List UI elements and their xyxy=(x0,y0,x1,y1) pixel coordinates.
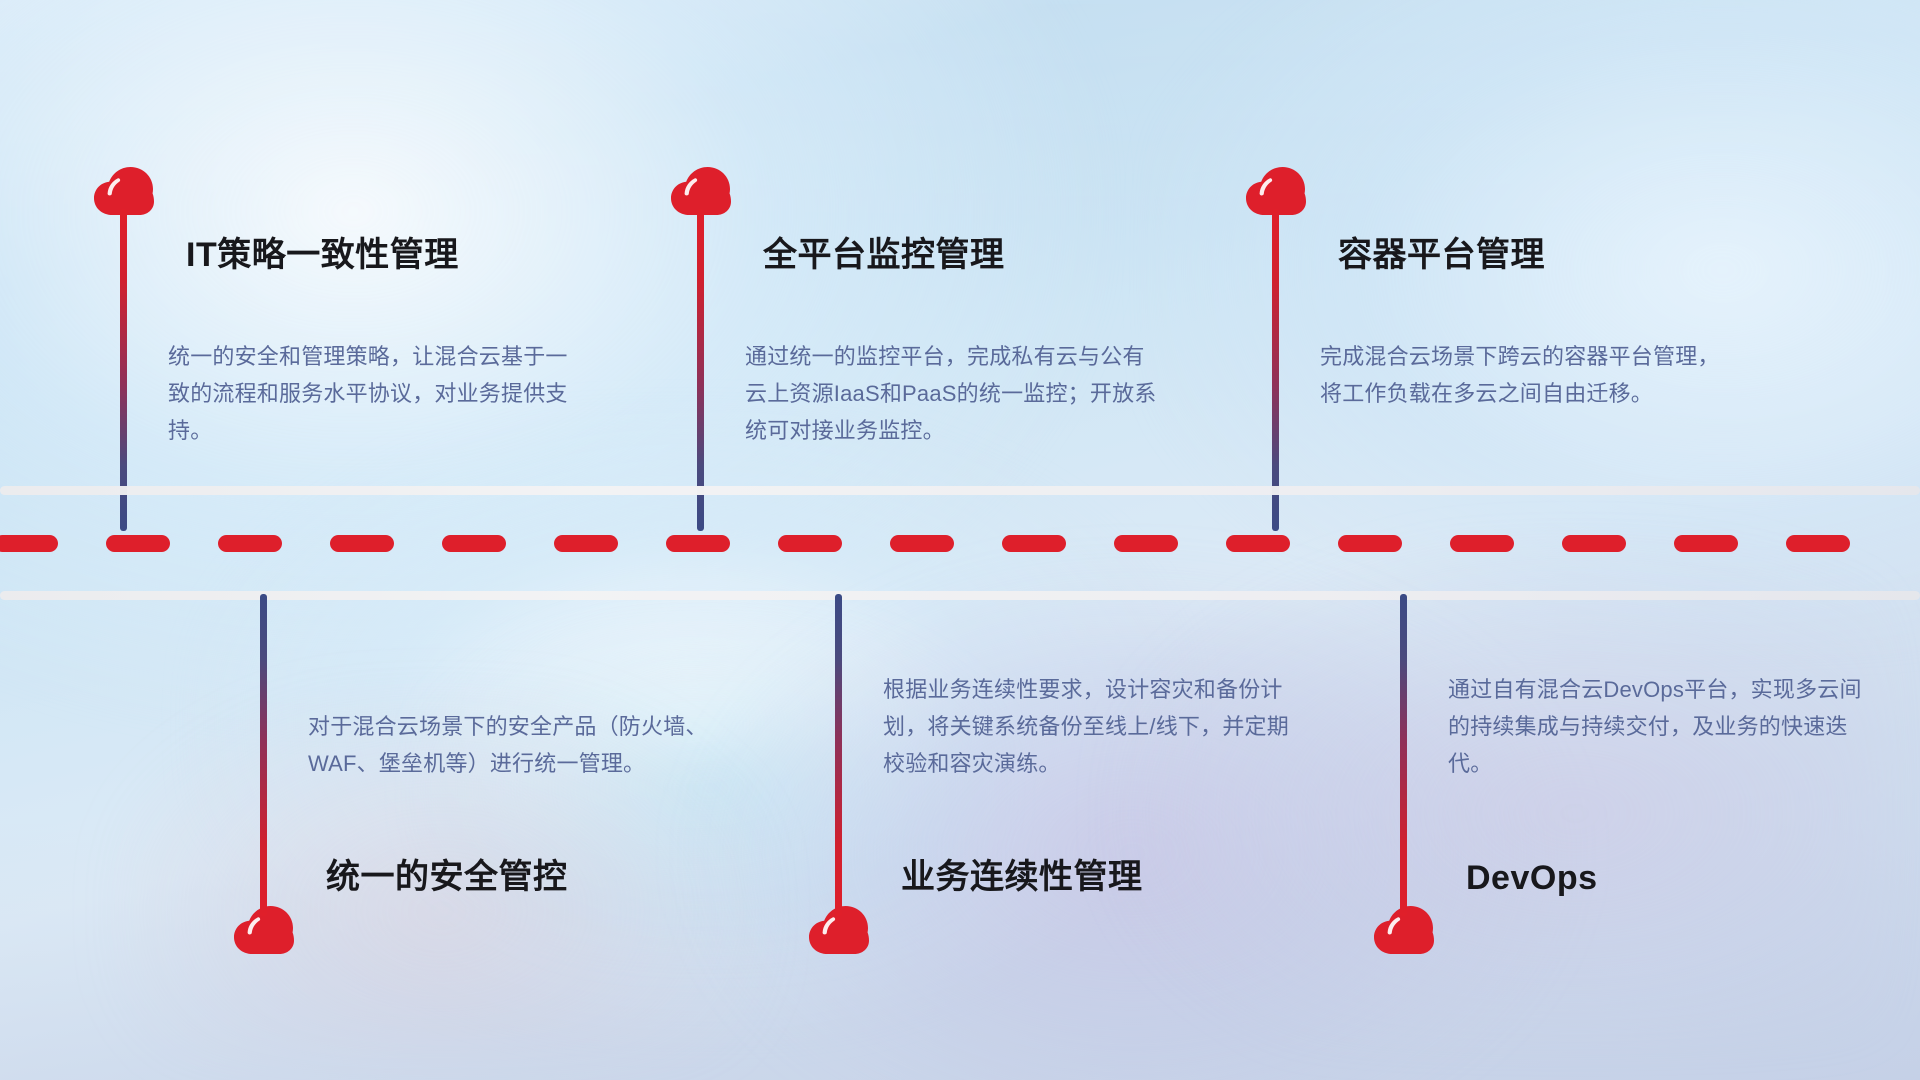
divider-band-bottom xyxy=(0,591,1920,600)
divider-dashes xyxy=(0,535,1920,552)
item-body: 对于混合云场景下的安全产品（防火墙、WAF、堡垒机等）进行统一管理。 xyxy=(308,708,728,782)
timeline-stem xyxy=(1272,209,1279,531)
divider-dash xyxy=(218,535,282,552)
timeline-stem xyxy=(835,594,842,916)
divider-dash xyxy=(1114,535,1178,552)
divider-dash xyxy=(554,535,618,552)
divider-dash xyxy=(0,535,58,552)
item-title: 容器平台管理 xyxy=(1338,227,1545,276)
item-title: 统一的安全管控 xyxy=(326,849,568,898)
item-body: 通过统一的监控平台，完成私有云与公有云上资源IaaS和PaaS的统一监控；开放系… xyxy=(745,338,1165,449)
divider-dash xyxy=(778,535,842,552)
item-body: 完成混合云场景下跨云的容器平台管理，将工作负载在多云之间自由迁移。 xyxy=(1320,338,1740,412)
divider-band-top xyxy=(0,486,1920,495)
divider-dash xyxy=(1786,535,1850,552)
divider-dash xyxy=(106,535,170,552)
divider-dash xyxy=(330,535,394,552)
divider-dash xyxy=(1450,535,1514,552)
timeline-stem xyxy=(120,209,127,531)
item-body: 通过自有混合云DevOps平台，实现多云间的持续集成与持续交付，及业务的快速迭代… xyxy=(1448,671,1868,782)
item-body: 统一的安全和管理策略，让混合云基于一致的流程和服务水平协议，对业务提供支持。 xyxy=(168,338,588,449)
item-body: 根据业务连续性要求，设计容灾和备份计划，将关键系统备份至线上/线下，并定期校验和… xyxy=(883,671,1303,782)
item-title: 全平台监控管理 xyxy=(763,227,1005,276)
divider-dash xyxy=(1226,535,1290,552)
divider-dash xyxy=(890,535,954,552)
infographic-canvas: IT策略一致性管理 统一的安全和管理策略，让混合云基于一致的流程和服务水平协议，… xyxy=(0,0,1920,1080)
divider-dash xyxy=(1338,535,1402,552)
item-title: IT策略一致性管理 xyxy=(186,227,459,276)
item-title: DevOps xyxy=(1466,859,1598,898)
item-title: 业务连续性管理 xyxy=(901,849,1143,898)
divider-dash xyxy=(1562,535,1626,552)
divider-dash xyxy=(442,535,506,552)
divider-dash xyxy=(1674,535,1738,552)
road-divider xyxy=(0,486,1920,600)
divider-dash xyxy=(666,535,730,552)
divider-dash xyxy=(1002,535,1066,552)
timeline-stem xyxy=(1400,594,1407,916)
timeline-stem xyxy=(260,594,267,916)
timeline-stem xyxy=(697,209,704,531)
